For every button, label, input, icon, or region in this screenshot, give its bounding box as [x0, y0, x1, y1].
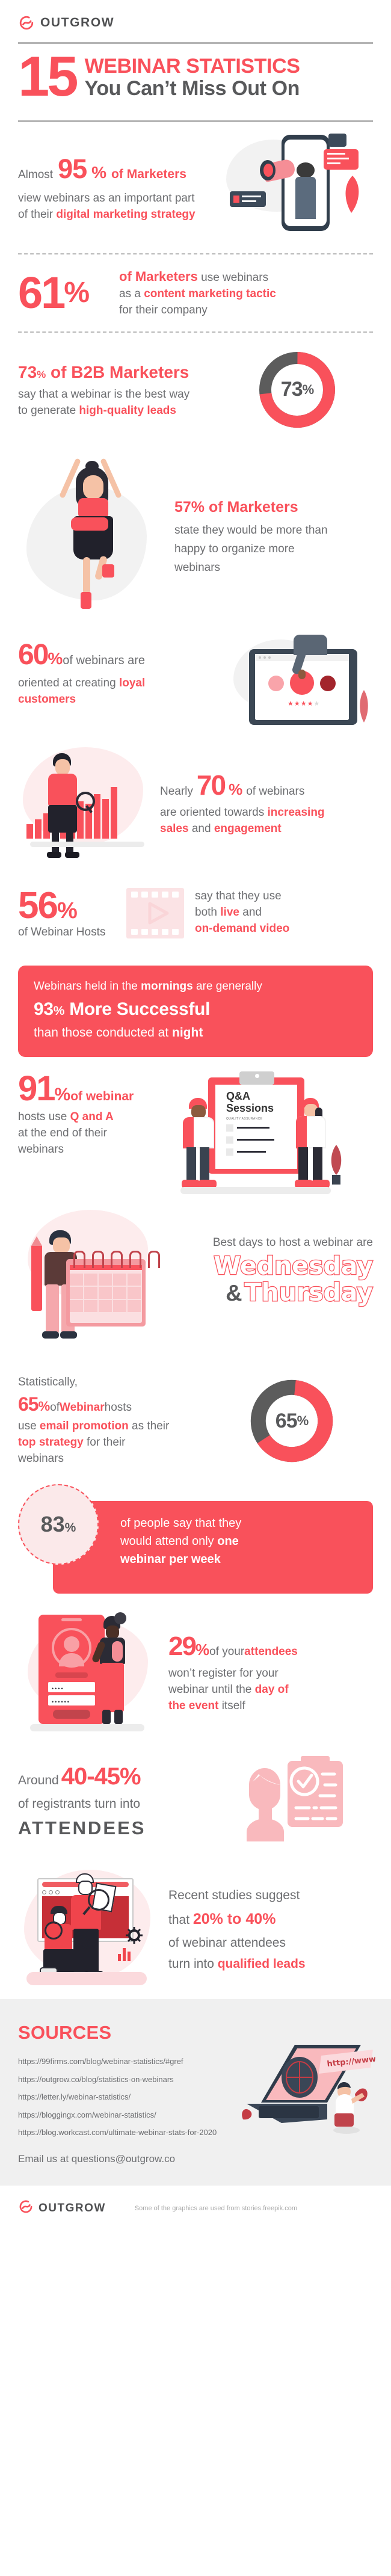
stat-56-line2-plain2: and — [239, 906, 262, 919]
stat-65-line3-highlight: email promotion — [40, 1420, 129, 1432]
stat-70-after: of webinars — [246, 784, 304, 800]
stat-65-text: Statistically, 65% of Webinar hosts use … — [18, 1375, 241, 1467]
brand-name: OUTGROW — [40, 16, 114, 30]
stat-91-line2-highlight: Q and A — [70, 1111, 114, 1123]
stat-73-pct: % — [37, 369, 46, 380]
stat-56-line1: say that they use — [195, 889, 289, 905]
stat-56-line3-highlight: on-demand video — [195, 922, 289, 935]
stat-20-40-text: Recent studies suggest that 20% to 40% o… — [168, 1885, 306, 1975]
illustration-laptop-url: http://www. — [237, 2029, 375, 2143]
donut-chart-73: 73% — [255, 348, 339, 432]
stat-60-number: 60 — [18, 635, 48, 676]
sources-section: SOURCES https://99firms.com/blog/webinar… — [0, 1999, 391, 2186]
stat-29-line3-highlight: day of — [255, 1683, 289, 1696]
stat-61-line1-plain: use webinars — [198, 271, 268, 284]
stat-56-line2-plain: both — [195, 906, 220, 919]
stat-65-line2-end: hosts — [105, 1400, 132, 1416]
stat-65-line2-mid: of — [50, 1400, 60, 1416]
stat-57-line2: state they would be more than — [174, 522, 328, 540]
donut-65-label: 65% — [247, 1376, 337, 1466]
stat-83-line1: of people say that they — [120, 1514, 359, 1532]
stat-91-after: of webinar — [70, 1088, 134, 1106]
stat-61-text: of Marketers use webinars as a content m… — [119, 267, 276, 319]
stat-95-text: Almost 95% of Marketers view webinars as… — [18, 150, 223, 223]
stat-20-40-line3: of webinar attendees — [168, 1932, 306, 1954]
stat-60-text: 60% of webinars are oriented at creating… — [18, 635, 223, 708]
stat-29-pct: % — [195, 1639, 209, 1661]
stat-61-number-group: 61 % — [18, 271, 119, 315]
stat-95-pct: % — [91, 161, 106, 185]
stat-65-line5: webinars — [18, 1451, 241, 1467]
stat-61-percent: 61 % of Marketers use webinars as a cont… — [0, 254, 391, 331]
footer-brand-name: OUTGROW — [38, 2202, 106, 2215]
stat-56-pct: % — [57, 898, 78, 924]
stat-70-pct: % — [229, 778, 242, 801]
stat-61-number: 61 — [18, 271, 64, 315]
stat-56-line2-highlight: live — [220, 906, 239, 919]
film-play-icon — [124, 882, 186, 944]
illustration-man-growth-chart — [18, 739, 156, 865]
stat-56-number: 56 — [18, 887, 57, 925]
stat-60-line2-highlight: loyal — [119, 677, 145, 689]
stat-40-45-number: 40-45% — [61, 1760, 141, 1794]
stat-40-45-line3: ATTENDEES — [18, 1815, 241, 1841]
stat-73-line3-plain: to generate — [18, 404, 79, 417]
stat-95-line3-plain: of their — [18, 208, 56, 221]
stat-70-line2-plain: are oriented towards — [160, 806, 268, 819]
stat-57-percent: 57% of Marketers state they would be mor… — [0, 447, 391, 627]
stat-65-line2-highlight: Webinar — [60, 1400, 105, 1416]
stat-61-line2-highlight: content marketing tactic — [144, 288, 276, 300]
stat-29-number: 29 — [168, 1628, 195, 1665]
stat-29-line4-highlight: the event — [168, 1699, 218, 1712]
stat-73-headline-rest: of B2B Marketers — [46, 363, 189, 381]
stat-40-45-text: Around 40-45% of registrants turn into A… — [18, 1760, 241, 1842]
stat-73-text: 73% of B2B Marketers say that a webinar … — [18, 360, 247, 419]
stat-91-number: 91 — [18, 1071, 55, 1106]
stat-95-after: of Marketers — [111, 165, 186, 183]
stat-56-number-group: 56% of Webinar Hosts — [18, 887, 132, 939]
stat-83-line3: webinar per week — [120, 1550, 359, 1568]
stat-20-40-line4-plain: turn into — [168, 1957, 218, 1971]
outgrow-logo-icon — [18, 2199, 34, 2217]
best-days-intro: Best days to host a webinar are — [162, 1236, 373, 1249]
outgrow-logo-icon — [18, 14, 35, 31]
stat-best-days: Best days to host a webinar are Wednesda… — [0, 1207, 391, 1358]
illustration-qa-sessions: Q&ASessions QUALITY ASSURANCE — [168, 1071, 349, 1210]
stat-95-percent: Almost 95% of Marketers view webinars as… — [0, 135, 391, 238]
stat-29-after: of your — [209, 1644, 244, 1660]
stat-57-line3: happy to organize more — [174, 540, 328, 559]
page-title: 15 WEBINAR STATISTICS You Can’t Miss Out… — [0, 44, 391, 109]
stat-83-circle: 83% — [18, 1484, 99, 1565]
best-days-ampersand: & — [226, 1281, 242, 1307]
best-day-1: Wednesday — [162, 1253, 373, 1279]
stat-60-line3-highlight: customers — [18, 693, 76, 706]
stat-40-45-lead: Around — [18, 1772, 59, 1790]
stat-29-line3-plain: webinar until the — [168, 1683, 255, 1696]
stat-73-line2: say that a webinar is the best way — [18, 387, 247, 403]
stat-91-line4: webinars — [18, 1142, 174, 1158]
stat-61-line2-plain: as a — [119, 288, 144, 300]
stat-83-bar: of people say that they would attend onl… — [53, 1501, 373, 1594]
stat-70-line3-highlight-1: sales — [160, 822, 189, 835]
stat-65-line1: Statistically, — [18, 1375, 241, 1391]
stat-95-line2: view webinars as an important part — [18, 191, 223, 207]
stat-29-percent: •••• •••••• 29% of your attendees won’t … — [0, 1602, 391, 1740]
stat-61-line1-highlight: of Marketers — [119, 269, 198, 284]
illustration-attendee-checklist — [241, 1752, 349, 1849]
stat-20-40-line2-highlight: 20% to 40% — [193, 1911, 276, 1927]
stat-65-line3-plain: use — [18, 1420, 40, 1432]
stat-56-text: say that they use both live and on-deman… — [195, 889, 289, 937]
stat-70-line3-plain: and — [189, 822, 214, 835]
stat-61-pct: % — [64, 276, 90, 309]
stat-20-40-percent: Recent studies suggest that 20% to 40% o… — [0, 1861, 391, 1999]
stat-91-line2-plain: hosts use — [18, 1111, 70, 1123]
banner-line1: Webinars held in the mornings are genera… — [34, 979, 357, 995]
donut-73-label: 73% — [255, 348, 339, 432]
title-line-1: WEBINAR STATISTICS — [85, 55, 300, 77]
stat-65-number: 65 — [18, 1391, 38, 1418]
footer: OUTGROW Some of the graphics are used fr… — [0, 2186, 391, 2233]
stat-20-40-line2-plain: that — [168, 1913, 193, 1927]
stat-best-days-text: Best days to host a webinar are Wednesda… — [162, 1236, 373, 1306]
banner-line2: 93% More Successful — [34, 998, 357, 1021]
illustration-jumping-woman — [18, 450, 168, 624]
stat-29-text: 29% of your attendees won’t register for… — [168, 1628, 298, 1714]
stat-65-percent: Statistically, 65% of Webinar hosts use … — [0, 1358, 391, 1484]
stat-57-headline: 57% of Marketers — [174, 497, 328, 519]
stat-56-percent: 56% of Webinar Hosts — [0, 868, 391, 958]
stat-95-lead: Almost — [18, 167, 53, 183]
stat-70-line2-highlight: increasing — [268, 806, 325, 819]
stat-83-value: 83% — [41, 1512, 76, 1537]
stat-73-number: 73 — [18, 363, 37, 381]
stat-70-number: 70 — [197, 766, 225, 805]
infographic-page: OUTGROW 15 WEBINAR STATISTICS You Can’t … — [0, 0, 391, 2576]
header-rule-bottom — [18, 120, 373, 122]
illustration-woman-megaphone-phone — [223, 134, 367, 239]
stat-60-line2-plain: oriented at creating — [18, 677, 119, 689]
stat-91-line3: at the end of their — [18, 1126, 174, 1142]
header-logo: OUTGROW — [0, 0, 391, 31]
stat-83-line2: would attend only one — [120, 1532, 359, 1550]
stat-29-line4-plain: itself — [218, 1699, 245, 1712]
banner-93-percent: Webinars held in the mornings are genera… — [18, 966, 373, 1057]
stat-95-line3-highlight: digital marketing strategy — [56, 208, 195, 221]
stat-56-sub: of Webinar Hosts — [18, 926, 132, 939]
stat-29-line2: won’t register for your — [168, 1666, 298, 1682]
best-day-2: Thursday — [245, 1280, 373, 1305]
stat-60-percent: 60% of webinars are oriented at creating… — [0, 627, 391, 736]
illustration-calendar-person — [18, 1207, 162, 1352]
donut-chart-65: 65% — [247, 1376, 337, 1466]
stat-57-line4: webinars — [174, 559, 328, 578]
stat-29-after-highlight: attendees — [244, 1644, 298, 1660]
stat-91-percent: 91% of webinar hosts use Q and A at the … — [0, 1057, 391, 1207]
stat-20-40-line4-highlight: qualified leads — [218, 1957, 306, 1971]
stat-60-pct: % — [48, 647, 63, 671]
footer-credit: Some of the graphics are used from stori… — [135, 2205, 297, 2212]
stat-91-pct: % — [55, 1082, 71, 1108]
stat-61-line3: for their company — [119, 303, 276, 319]
stat-57-text: 57% of Marketers state they would be mor… — [174, 497, 328, 578]
stat-65-line4-highlight: top strategy — [18, 1436, 84, 1449]
banner-line3: than those conducted at night — [34, 1024, 357, 1041]
contact-email[interactable]: Email us at questions@outgrow.co — [18, 2153, 373, 2165]
stat-70-line3-highlight-2: engagement — [214, 822, 282, 835]
stat-60-after: of webinars are — [63, 652, 145, 669]
illustration-two-men-browser — [18, 1864, 168, 1996]
stat-65-pct: % — [38, 1397, 51, 1416]
stat-95-number: 95 — [58, 150, 87, 188]
stat-70-lead: Nearly — [160, 784, 193, 800]
title-line-2: You Can’t Miss Out On — [85, 77, 300, 100]
stat-83-percent: of people say that they would attend onl… — [18, 1484, 373, 1594]
stat-91-text: 91% of webinar hosts use Q and A at the … — [18, 1071, 174, 1158]
stat-40-45-percent: Around 40-45% of registrants turn into A… — [0, 1740, 391, 1861]
stat-73-line3-highlight: high-quality leads — [79, 404, 176, 417]
footer-logo: OUTGROW — [18, 2199, 106, 2217]
stat-65-line3-end: as their — [129, 1420, 170, 1432]
title-count: 15 — [18, 52, 76, 102]
illustration-login-woman: •••• •••••• — [18, 1605, 168, 1737]
stat-73-percent: 73% of B2B Marketers say that a webinar … — [0, 333, 391, 447]
stat-70-percent: Nearly 70% of webinars are oriented towa… — [0, 736, 391, 868]
stat-40-45-line2: of registrants turn into — [18, 1795, 241, 1813]
illustration-tablet-rating: ★★★★★ — [223, 635, 373, 737]
stat-20-40-line1: Recent studies suggest — [168, 1885, 306, 1906]
stat-65-line4-end: for their — [84, 1436, 126, 1449]
stat-70-text: Nearly 70% of webinars are oriented towa… — [160, 766, 325, 837]
